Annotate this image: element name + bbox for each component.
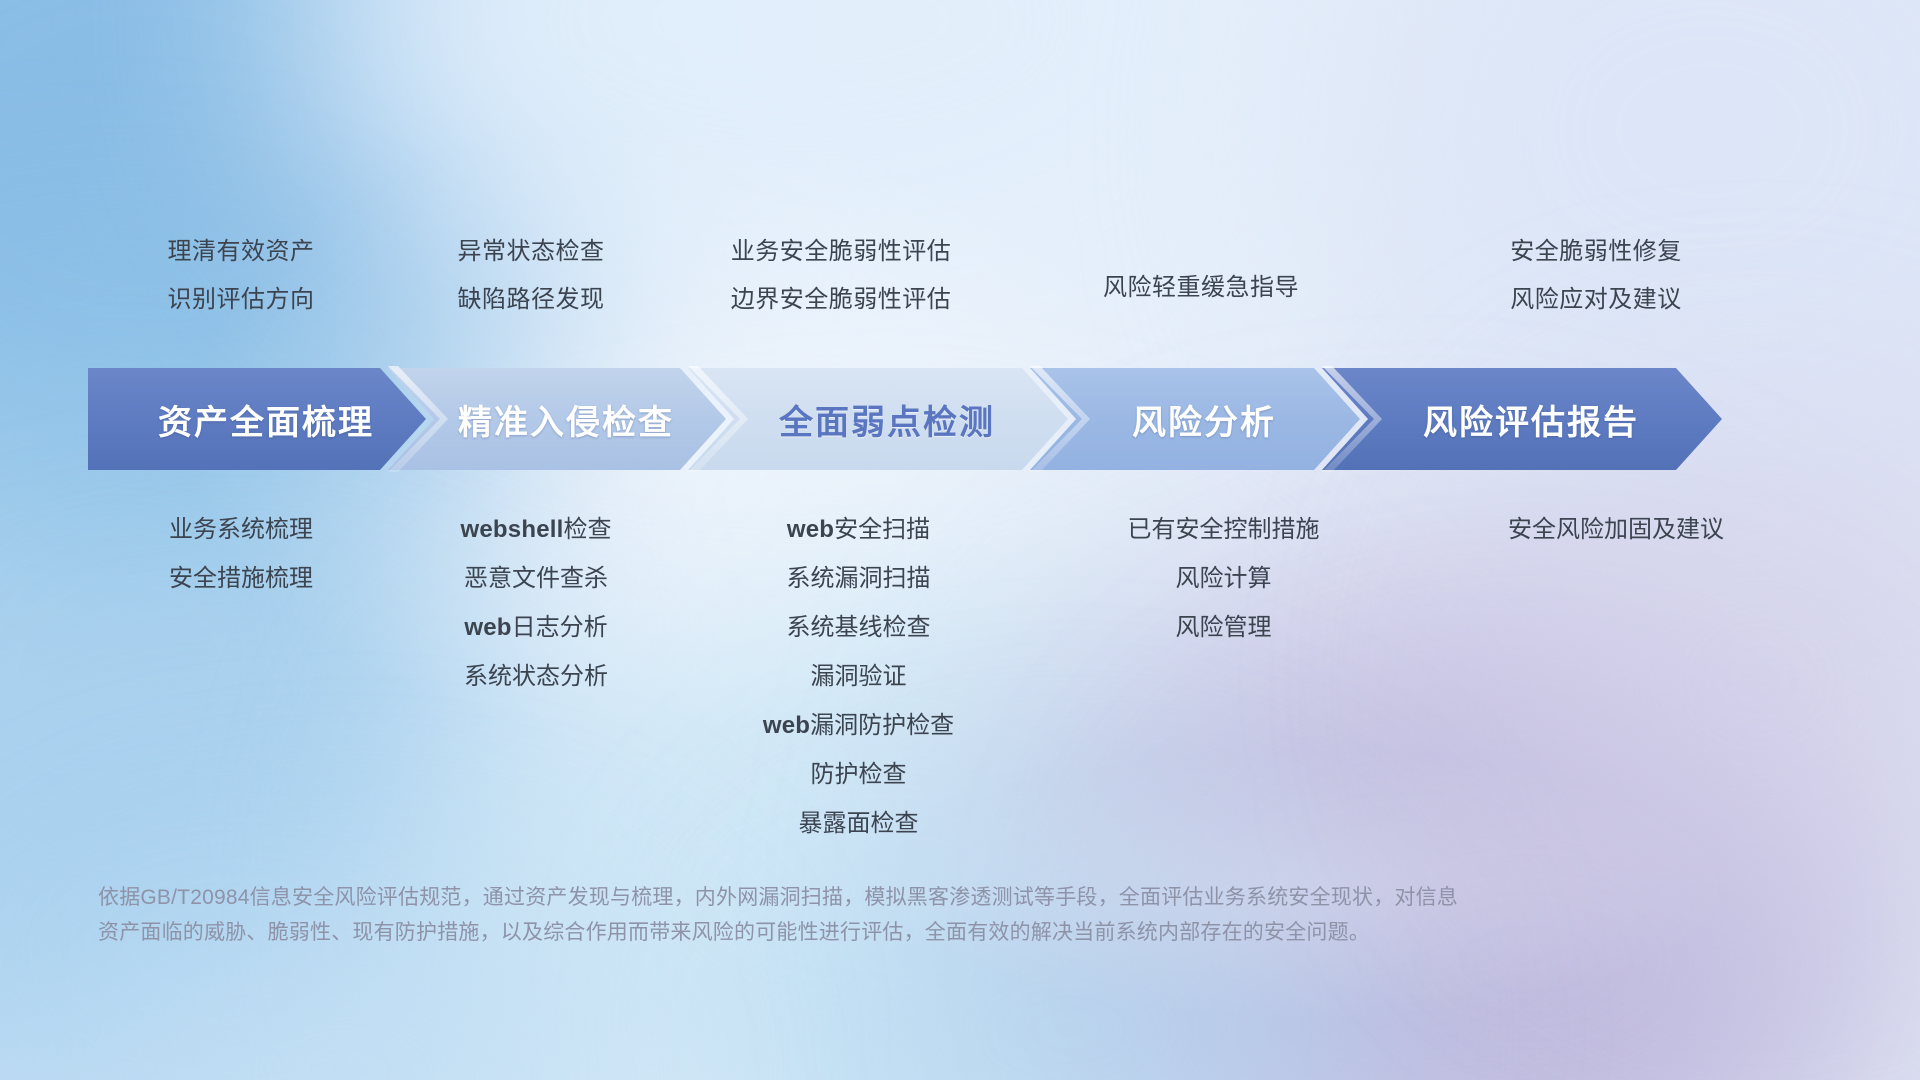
outcome-text: 缺陷路径发现 xyxy=(458,276,605,324)
task-group-weakness-detection: web安全扫描 系统漏洞扫描 系统基线检查 漏洞验证 web漏洞防护检查 防护检… xyxy=(686,505,1031,848)
list-item: 系统基线检查 xyxy=(787,603,931,652)
process-step-assessment-report[interactable]: 风险评估报告 xyxy=(1322,368,1722,470)
list-item: 风险管理 xyxy=(1176,603,1272,652)
process-step-weakness-detection[interactable]: 全面弱点检测 xyxy=(688,368,1068,470)
task-group-asset-inventory: 业务系统梳理 安全措施梳理 xyxy=(96,505,386,848)
process-step-label: 全面弱点检测 xyxy=(779,395,995,444)
outcome-text: 风险轻重缓急指导 xyxy=(1103,264,1299,312)
list-item: 恶意文件查杀 xyxy=(464,554,608,603)
task-text: 安全扫描 xyxy=(834,516,930,543)
list-item: 暴露面检查 xyxy=(799,799,919,848)
process-step-asset-inventory[interactable]: 资产全面梳理 xyxy=(88,368,426,470)
outcome-text: 理清有效资产 xyxy=(168,228,315,276)
list-item: web漏洞防护检查 xyxy=(763,701,954,750)
task-text: 系统状态分析 xyxy=(464,663,608,690)
list-item: 业务系统梳理 xyxy=(169,505,313,554)
list-item: webshell检查 xyxy=(461,505,612,554)
task-prefix: web xyxy=(763,712,810,739)
outcome-group-risk-analysis: 风险轻重缓急指导 xyxy=(1006,228,1396,338)
list-item: 系统状态分析 xyxy=(464,652,608,701)
process-step-label: 精准入侵检查 xyxy=(458,395,674,444)
outcome-group-intrusion-check: 异常状态检查 缺陷路径发现 xyxy=(386,228,676,338)
task-group-risk-analysis: 已有安全控制措施 风险计算 风险管理 xyxy=(1031,505,1416,848)
task-text: 恶意文件查杀 xyxy=(464,565,608,592)
task-text: 检查 xyxy=(563,516,611,543)
outcome-text: 安全脆弱性修复 xyxy=(1510,228,1682,276)
process-step-intrusion-check[interactable]: 精准入侵检查 xyxy=(388,368,726,470)
process-tasks-row: 业务系统梳理 安全措施梳理 webshell检查 恶意文件查杀 web日志分析 … xyxy=(96,505,1824,848)
outcome-text: 风险应对及建议 xyxy=(1510,276,1682,324)
list-item: 系统漏洞扫描 xyxy=(787,554,931,603)
task-text: 风险计算 xyxy=(1176,565,1272,592)
task-text: 安全措施梳理 xyxy=(169,565,313,592)
footnote-line: 依据GB/T20984信息安全风险评估规范，通过资产发现与梳理，内外网漏洞扫描，… xyxy=(98,880,1618,915)
footnote-paragraph: 依据GB/T20984信息安全风险评估规范，通过资产发现与梳理，内外网漏洞扫描，… xyxy=(98,880,1618,950)
task-text: 日志分析 xyxy=(512,614,608,641)
list-item: 安全措施梳理 xyxy=(169,554,313,603)
task-prefix: web xyxy=(464,614,511,641)
task-text: 暴露面检查 xyxy=(799,810,919,837)
risk-assessment-process-diagram: 理清有效资产 识别评估方向 异常状态检查 缺陷路径发现 业务安全脆弱性评估 边界… xyxy=(0,0,1920,1080)
list-item: 防护检查 xyxy=(811,750,907,799)
task-text: 风险管理 xyxy=(1176,614,1272,641)
task-group-assessment-report: 安全风险加固及建议 xyxy=(1416,505,1816,848)
task-text: 业务系统梳理 xyxy=(169,516,313,543)
process-step-label: 资产全面梳理 xyxy=(158,395,374,444)
task-text: 漏洞防护检查 xyxy=(810,712,954,739)
task-group-intrusion-check: webshell检查 恶意文件查杀 web日志分析 系统状态分析 xyxy=(386,505,686,848)
list-item: web安全扫描 xyxy=(787,505,930,554)
task-text: 防护检查 xyxy=(811,761,907,788)
list-item: 风险计算 xyxy=(1176,554,1272,603)
task-text: 已有安全控制措施 xyxy=(1128,516,1320,543)
outcome-text: 识别评估方向 xyxy=(168,276,315,324)
process-step-label: 风险评估报告 xyxy=(1423,395,1639,444)
task-prefix: web xyxy=(787,516,834,543)
outcome-text: 边界安全脆弱性评估 xyxy=(731,276,952,324)
outcome-group-weakness-detection: 业务安全脆弱性评估 边界安全脆弱性评估 xyxy=(676,228,1006,338)
list-item: 漏洞验证 xyxy=(811,652,907,701)
process-step-risk-analysis[interactable]: 风险分析 xyxy=(1030,368,1360,470)
process-step-label: 风险分析 xyxy=(1132,395,1276,444)
task-text: 系统基线检查 xyxy=(787,614,931,641)
footnote-line: 资产面临的威胁、脆弱性、现有防护措施，以及综合作用而带来风险的可能性进行评估，全… xyxy=(98,915,1618,950)
outcome-group-asset-inventory: 理清有效资产 识别评估方向 xyxy=(96,228,386,338)
task-text: 安全风险加固及建议 xyxy=(1508,516,1724,543)
list-item: 安全风险加固及建议 xyxy=(1508,505,1724,554)
task-text: 系统漏洞扫描 xyxy=(787,565,931,592)
task-prefix: webshell xyxy=(461,516,564,543)
list-item: 已有安全控制措施 xyxy=(1128,505,1320,554)
outcome-group-assessment-report: 安全脆弱性修复 风险应对及建议 xyxy=(1396,228,1796,338)
outcome-text: 异常状态检查 xyxy=(458,228,605,276)
process-outcomes-row: 理清有效资产 识别评估方向 异常状态检查 缺陷路径发现 业务安全脆弱性评估 边界… xyxy=(96,228,1824,338)
outcome-text: 业务安全脆弱性评估 xyxy=(731,228,952,276)
task-text: 漏洞验证 xyxy=(811,663,907,690)
list-item: web日志分析 xyxy=(464,603,607,652)
process-step-band: 资产全面梳理 精准入侵检查 全面弱点检测 风险分析 风险评估报告 xyxy=(88,368,1848,470)
